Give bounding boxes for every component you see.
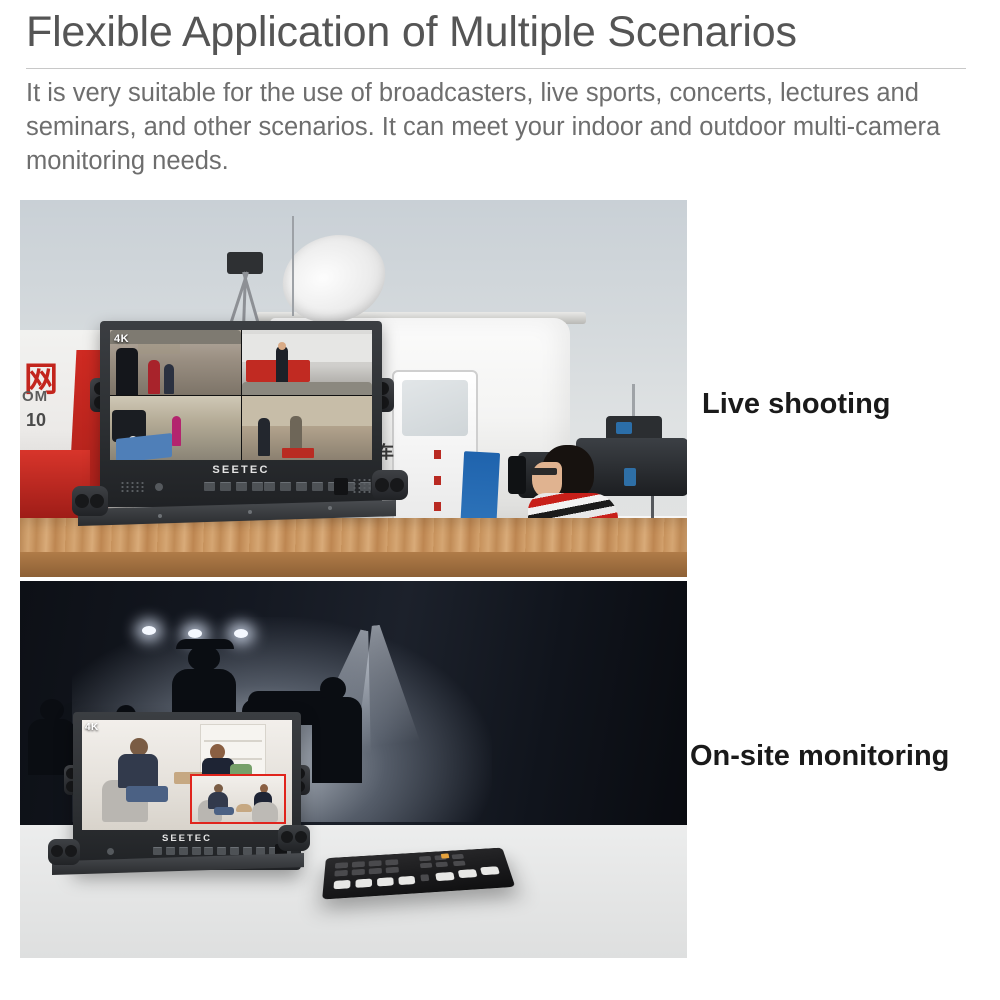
- monitor-button[interactable]: [220, 482, 231, 491]
- monitor2-power-led: [107, 848, 114, 855]
- bookshelf-divider: [204, 740, 262, 742]
- monitor-button[interactable]: [236, 482, 247, 491]
- switcher-program-key[interactable]: [398, 876, 415, 885]
- wooden-table-edge: [20, 552, 687, 577]
- switcher-key[interactable]: [453, 861, 466, 867]
- switcher-aux-key[interactable]: [420, 874, 429, 881]
- antenna-mast: [292, 216, 294, 316]
- switcher-key[interactable]: [334, 870, 347, 877]
- monitor-button[interactable]: [230, 847, 239, 855]
- switcher-key[interactable]: [369, 860, 382, 866]
- page-title: Flexible Application of Multiple Scenari…: [26, 8, 797, 57]
- spotlight: [142, 626, 156, 635]
- monitor-button[interactable]: [312, 482, 323, 491]
- switcher-cut-key[interactable]: [480, 866, 500, 875]
- monitor-function-buttons-group1[interactable]: [204, 482, 263, 491]
- seetec-monitor-onsite[interactable]: 4K SEETEC: [73, 712, 301, 870]
- interviewer-legs: [126, 786, 168, 802]
- badge-4k: 4K: [114, 333, 129, 345]
- monitor2-screen[interactable]: [82, 720, 292, 830]
- vent-grille-icon: [352, 478, 372, 494]
- monitor-foot-left: [72, 486, 108, 516]
- switcher-key[interactable]: [386, 867, 399, 873]
- monitor-foot-right: [372, 470, 408, 500]
- monitor-button[interactable]: [256, 847, 265, 855]
- quadrant-4[interactable]: [242, 396, 373, 461]
- power-led: [155, 483, 163, 491]
- tripod-head: [227, 252, 263, 274]
- intro-paragraph: It is very suitable for the use of broad…: [26, 76, 974, 178]
- caption-onsite-monitoring: On-site monitoring: [690, 740, 949, 773]
- camera-blue-accent: [616, 422, 632, 434]
- speaker-grille-icon: [120, 481, 146, 493]
- switcher-key[interactable]: [352, 861, 365, 867]
- monitor-button[interactable]: [179, 847, 188, 855]
- monitor-input-jack[interactable]: [334, 478, 348, 495]
- left-truck-text-om: OM: [22, 388, 48, 405]
- monitor-button[interactable]: [153, 847, 162, 855]
- monitor-button[interactable]: [204, 847, 213, 855]
- photo-onsite-monitoring: 4K SEETEC: [20, 581, 687, 958]
- monitor-button[interactable]: [192, 847, 201, 855]
- silhouette-cap-brim: [176, 639, 234, 649]
- camera-blue-accent-2: [624, 468, 636, 486]
- van-door-marker-3: [434, 502, 441, 511]
- switcher-key[interactable]: [419, 856, 431, 861]
- switcher-transition-key[interactable]: [435, 872, 455, 881]
- left-truck-text-10: 10: [26, 410, 46, 431]
- switcher-key[interactable]: [420, 863, 432, 869]
- monitor-button[interactable]: [217, 847, 226, 855]
- monitor-screen-quad-view[interactable]: [110, 330, 372, 460]
- pip-interviewer-legs: [214, 807, 234, 815]
- silhouette-person-5-body: [312, 697, 362, 783]
- switcher-key[interactable]: [385, 859, 398, 865]
- title-divider: [26, 68, 966, 69]
- monitor-button[interactable]: [296, 482, 307, 491]
- switcher-program-key[interactable]: [377, 877, 394, 886]
- switcher-key[interactable]: [452, 854, 464, 859]
- van-door-marker-2: [434, 476, 441, 485]
- pip-armchair-right: [252, 802, 278, 822]
- monitor2-foot-right: [278, 825, 310, 851]
- monitor-button[interactable]: [280, 482, 291, 491]
- switcher-transition-key[interactable]: [458, 869, 478, 878]
- quadrant-2[interactable]: [242, 330, 373, 395]
- quadrant-3[interactable]: [110, 396, 241, 461]
- van-door-window: [402, 380, 468, 436]
- pip-side-table: [236, 804, 252, 812]
- monitor2-foot-left: [48, 839, 80, 865]
- switcher-program-key[interactable]: [355, 879, 372, 888]
- switcher-key[interactable]: [335, 862, 348, 868]
- switcher-key[interactable]: [369, 868, 382, 875]
- switcher-program-key[interactable]: [333, 880, 350, 889]
- spotlight: [188, 629, 202, 638]
- spotlight: [234, 629, 248, 638]
- switcher-brand-mark-icon: [441, 853, 450, 858]
- van-door-marker-1: [434, 450, 441, 459]
- seetec-monitor-live[interactable]: 4K SEETEC: [100, 321, 382, 507]
- badge-4k: 4K: [85, 722, 99, 733]
- monitor-brand-logo: SEETEC: [100, 464, 382, 476]
- pip-window[interactable]: [190, 774, 286, 824]
- caption-live-shooting: Live shooting: [702, 388, 891, 421]
- interviewer-torso: [118, 754, 158, 788]
- cameraman-glasses: [531, 468, 557, 475]
- monitor-button[interactable]: [243, 847, 252, 855]
- camera-antenna: [632, 384, 635, 420]
- monitor-button[interactable]: [252, 482, 263, 491]
- monitor2-function-buttons-group1[interactable]: [153, 847, 201, 855]
- camera-lens-hood: [508, 456, 526, 494]
- monitor2-brand-logo: SEETEC: [73, 833, 301, 844]
- monitor-button[interactable]: [204, 482, 215, 491]
- monitor-button[interactable]: [166, 847, 175, 855]
- photo-live-shooting: 网 OM 10 星直播车 体验: [20, 200, 687, 577]
- page-root: Flexible Application of Multiple Scenari…: [0, 0, 1000, 1000]
- silhouette-seated-head: [40, 699, 64, 721]
- monitor-button[interactable]: [264, 482, 275, 491]
- quadrant-1[interactable]: [110, 330, 241, 395]
- switcher-key[interactable]: [435, 862, 448, 868]
- switcher-key[interactable]: [352, 869, 365, 876]
